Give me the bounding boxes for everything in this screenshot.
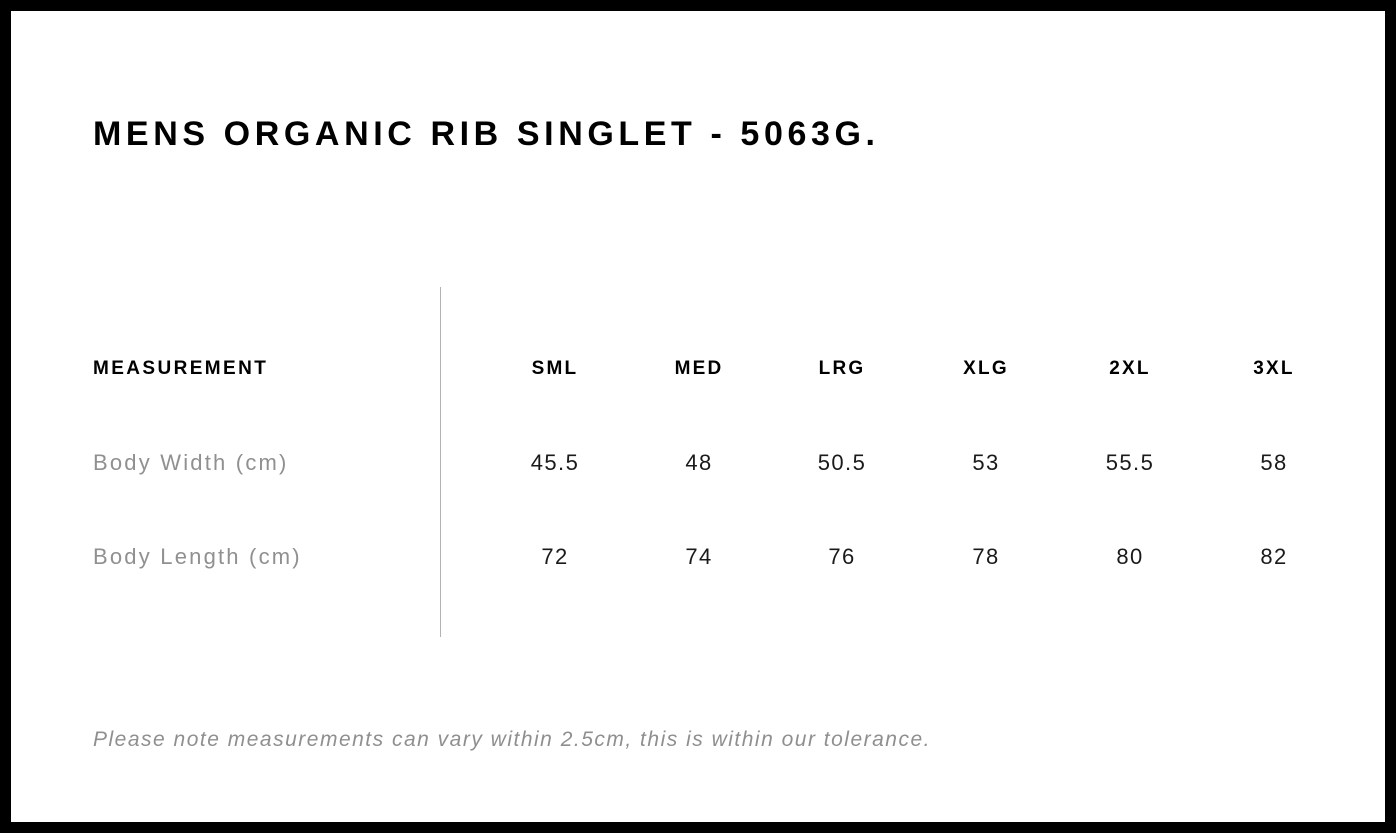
cell-body-width-lrg: 50.5: [782, 448, 902, 478]
table-header-row: MEASUREMENT SML MED LRG XLG 2XL 3XL: [11, 356, 1385, 396]
cell-body-width-med: 48: [639, 448, 759, 478]
cell-body-width-xlg: 53: [926, 448, 1046, 478]
cell-body-length-2xl: 80: [1070, 542, 1190, 572]
row-label-body-width: Body Width (cm): [93, 448, 289, 478]
tolerance-note: Please note measurements can vary within…: [93, 728, 931, 752]
column-header-3xl: 3XL: [1214, 356, 1334, 382]
cell-body-width-2xl: 55.5: [1070, 448, 1190, 478]
cell-body-width-sml: 45.5: [495, 448, 615, 478]
cell-body-length-3xl: 82: [1214, 542, 1334, 572]
page-title: MENS ORGANIC RIB SINGLET - 5063G.: [93, 115, 880, 154]
row-label-body-length: Body Length (cm): [93, 542, 302, 572]
column-header-2xl: 2XL: [1070, 356, 1190, 382]
cell-body-length-sml: 72: [495, 542, 615, 572]
column-header-lrg: LRG: [782, 356, 902, 382]
column-header-sml: SML: [495, 356, 615, 382]
table-row: Body Width (cm) 45.5 48 50.5 53 55.5 58: [11, 448, 1385, 488]
cell-body-width-3xl: 58: [1214, 448, 1334, 478]
column-header-xlg: XLG: [926, 356, 1046, 382]
cell-body-length-med: 74: [639, 542, 759, 572]
size-chart-card: MENS ORGANIC RIB SINGLET - 5063G. MEASUR…: [11, 11, 1385, 822]
cell-body-length-xlg: 78: [926, 542, 1046, 572]
table-row: Body Length (cm) 72 74 76 78 80 82: [11, 542, 1385, 582]
cell-body-length-lrg: 76: [782, 542, 902, 572]
column-header-measurement: MEASUREMENT: [93, 356, 268, 382]
column-header-med: MED: [639, 356, 759, 382]
